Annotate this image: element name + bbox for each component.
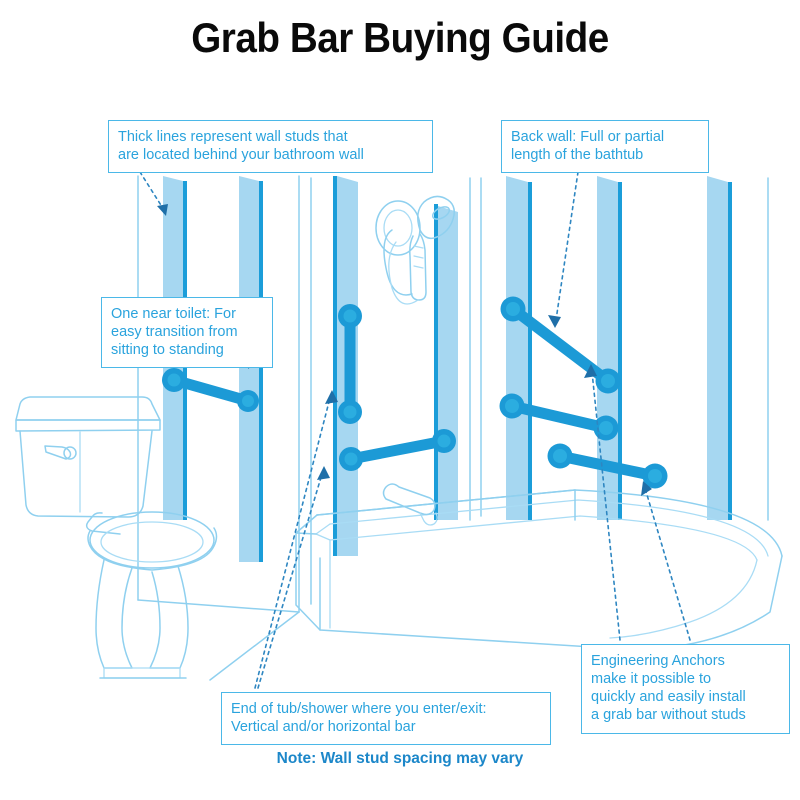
infographic-canvas: .ln{fill:none;stroke:#8fd0ef;stroke-widt…	[0, 0, 800, 800]
leader-backwall	[548, 172, 578, 328]
callout-end-of-tub: End of tub/shower where you enter/exit: …	[221, 692, 551, 745]
stud-7	[707, 176, 730, 520]
callout-wall-studs: Thick lines represent wall studs that ar…	[108, 120, 433, 173]
callout-back-wall: Back wall: Full or partial length of the…	[501, 120, 709, 173]
callout-engineering-anchors: Engineering Anchors make it possible to …	[581, 644, 790, 734]
stud-2	[239, 176, 261, 562]
stud-4	[436, 204, 458, 520]
page-title: Grab Bar Buying Guide	[32, 16, 768, 60]
stud-5	[506, 176, 530, 520]
callout-near-toilet: One near toilet: For easy transition fro…	[101, 297, 273, 368]
wall-studs-group	[163, 176, 730, 562]
leader-endtub-b	[258, 466, 330, 688]
leader-anchors-b	[641, 481, 690, 640]
footer-note: Note: Wall stud spacing may vary	[0, 750, 800, 768]
